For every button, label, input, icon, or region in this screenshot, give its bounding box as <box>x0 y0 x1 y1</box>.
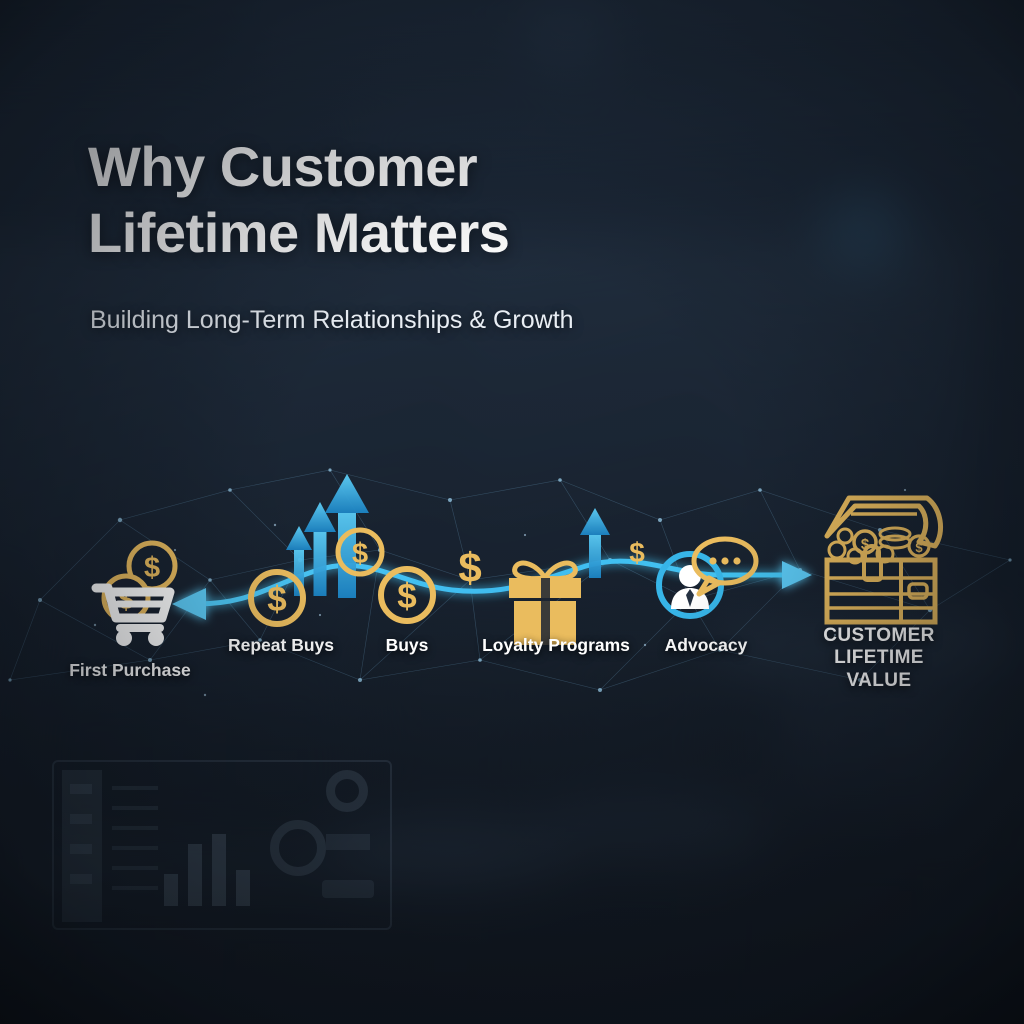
infographic-canvas: Why Customer Lifetime Matters Building L… <box>0 0 1024 1024</box>
vignette-overlay <box>0 0 1024 1024</box>
